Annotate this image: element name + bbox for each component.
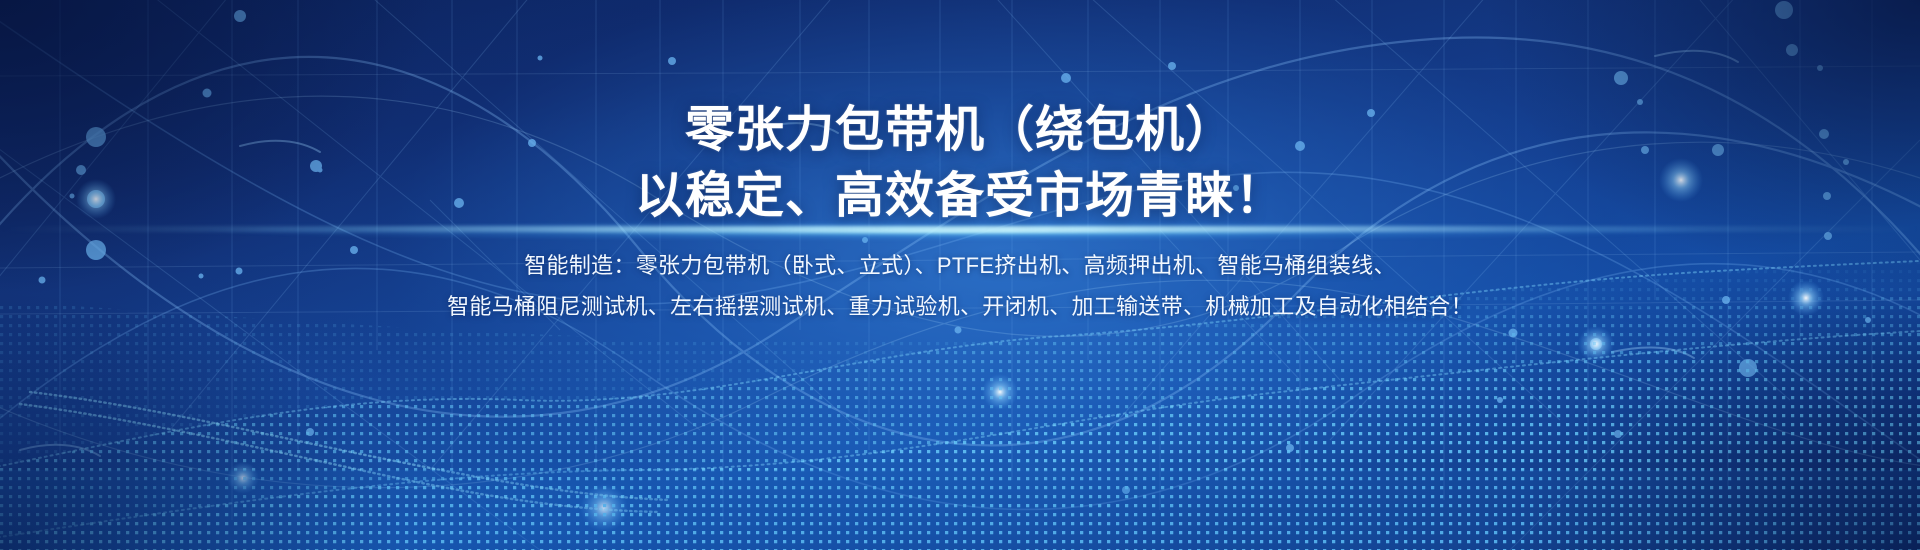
banner-content: 零张力包带机（绕包机） 以稳定、高效备受市场青睐！ 智能制造：零张力包带机（卧式… bbox=[0, 0, 1920, 550]
banner-title-line-1: 零张力包带机（绕包机） bbox=[685, 97, 1235, 163]
hero-banner: 零张力包带机（绕包机） 以稳定、高效备受市场青睐！ 智能制造：零张力包带机（卧式… bbox=[0, 0, 1920, 550]
banner-subtitle-line-1: 智能制造：零张力包带机（卧式、立式）、PTFE挤出机、高频押出机、智能马桶组装线… bbox=[524, 245, 1396, 286]
banner-title-line-2: 以稳定、高效备受市场青睐！ bbox=[635, 163, 1285, 229]
banner-subtitle-line-2: 智能马桶阻尼测试机、左右摇摆测试机、重力试验机、开闭机、加工输送带、机械加工及自… bbox=[447, 286, 1473, 327]
